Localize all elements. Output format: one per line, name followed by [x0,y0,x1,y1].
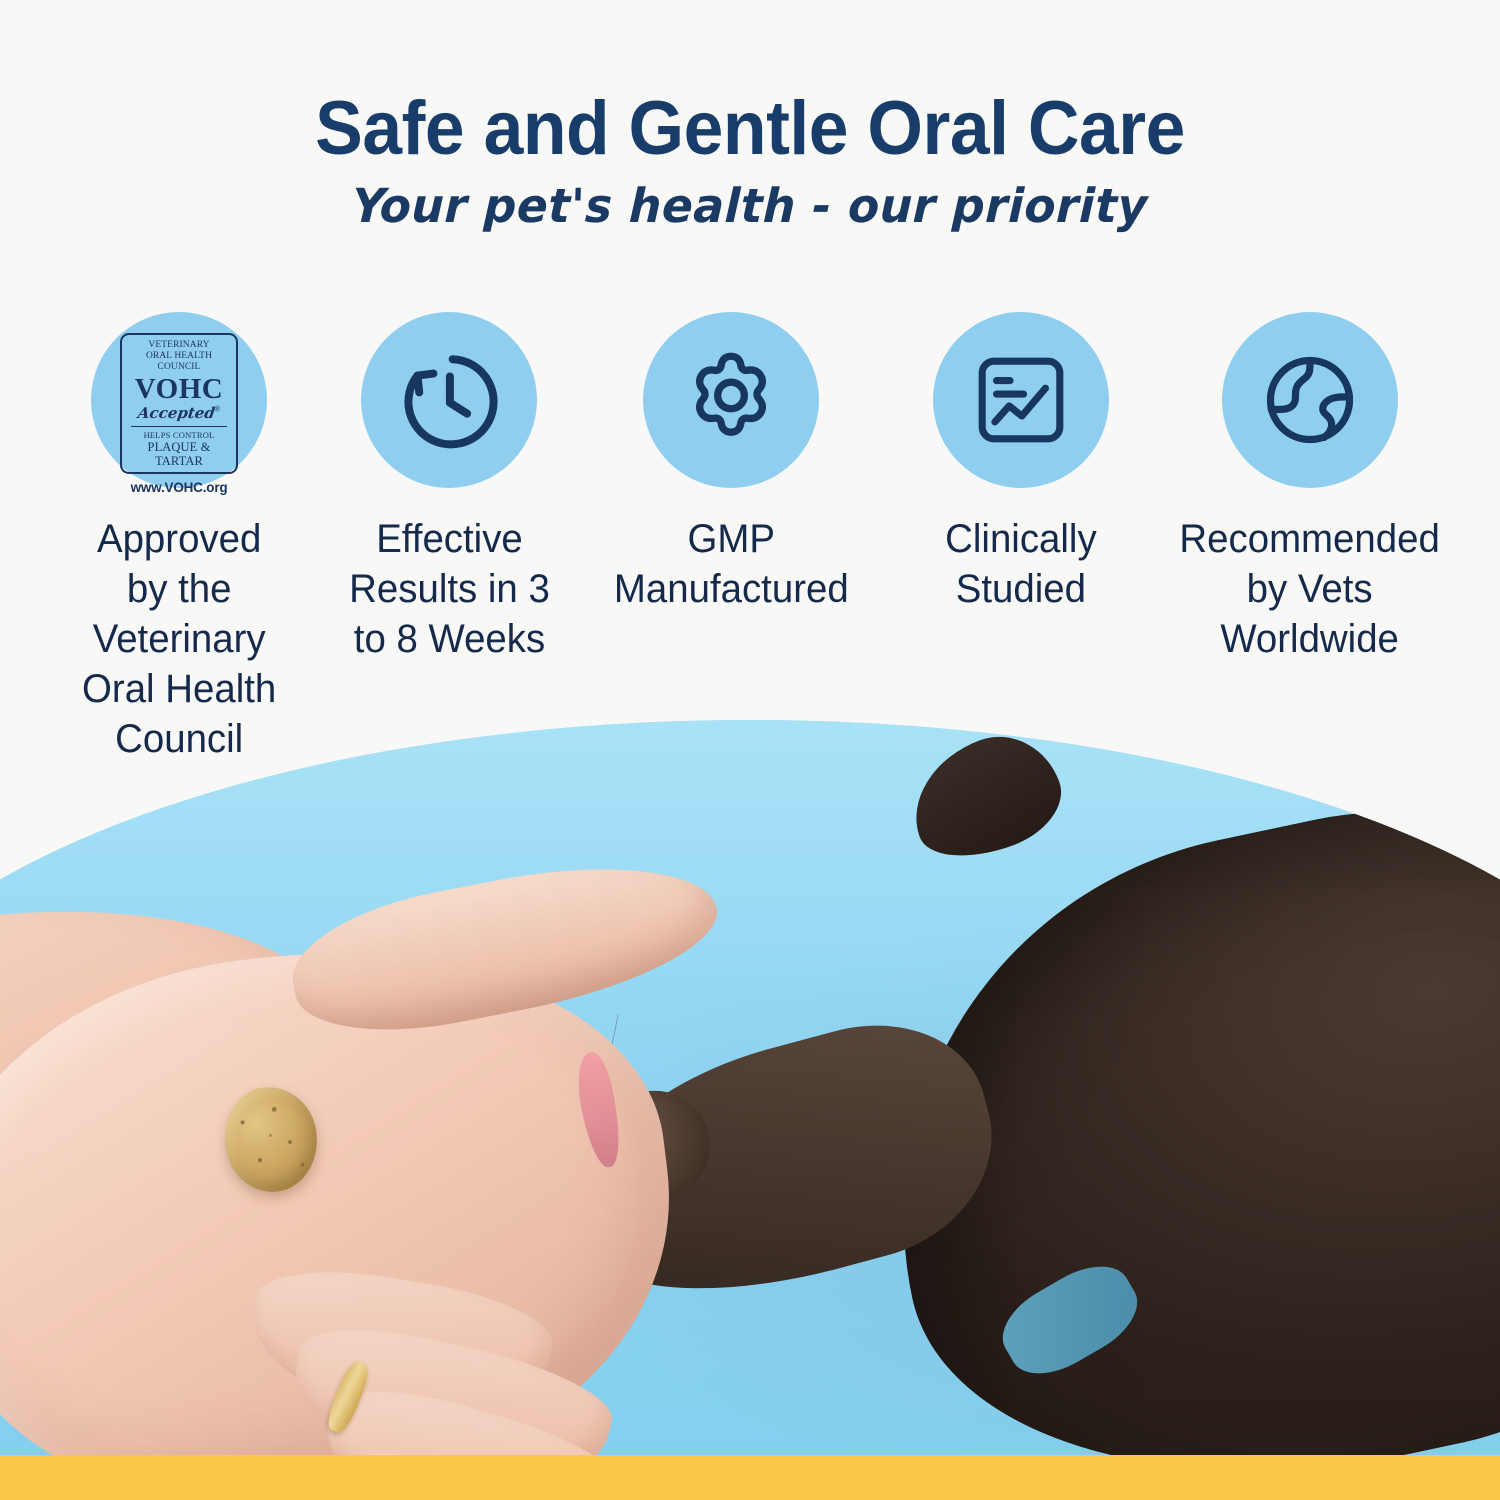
hero-photo-clip [0,720,1500,1455]
vohc-seal-divider [131,426,227,427]
clock-rotate-icon [391,342,507,458]
vohc-seal-helps: HELPS CONTROL [125,430,233,440]
vohc-seal-box: VETERINARY ORAL HEALTH COUNCIL VOHC Acce… [120,333,238,474]
benefit-item-vohc-approved: VETERINARY ORAL HEALTH COUNCIL VOHC Acce… [45,312,313,764]
benefit-item-gmp-manufactured: GMP Manufactured [585,312,877,764]
vohc-seal-mark: VOHC [125,374,233,404]
vohc-seal-url: www.VOHC.org [131,479,228,496]
hero-photo [0,720,1500,1455]
benefit-icon-circle [1222,312,1398,488]
benefit-label: Clinically Studied [945,514,1097,614]
page-subtitle: Your pet's health - our priority [21,172,1478,236]
chart-report-icon [967,346,1075,454]
page-title: Safe and Gentle Oral Care [45,0,1455,172]
benefit-icon-circle [933,312,1109,488]
benefit-item-vet-recommended: Recommended by Vets Worldwide [1165,312,1455,764]
benefit-label: GMP Manufactured [614,514,849,614]
benefit-item-effective-results: Effective Results in 3 to 8 Weeks [313,312,585,764]
vohc-seal-line1: VETERINARY [125,340,233,351]
globe-icon [1255,345,1365,455]
benefit-label: Effective Results in 3 to 8 Weeks [349,514,550,664]
benefit-icon-circle: VETERINARY ORAL HEALTH COUNCIL VOHC Acce… [91,312,267,488]
benefit-label: Recommended by Vets Worldwide [1180,514,1440,664]
hero-photo-background [0,720,1500,1455]
vohc-seal-accepted-row: Accepted® [125,404,233,423]
benefit-icon-circle [643,312,819,488]
benefits-row: VETERINARY ORAL HEALTH COUNCIL VOHC Acce… [0,312,1500,764]
promo-poster: Safe and Gentle Oral Care Your pet's hea… [0,0,1500,1500]
vohc-seal-icon: VETERINARY ORAL HEALTH COUNCIL VOHC Acce… [119,333,239,467]
header: Safe and Gentle Oral Care Your pet's hea… [0,0,1500,236]
vohc-seal-line2: ORAL HEALTH COUNCIL [125,351,233,373]
vohc-seal-accepted: Accepted [136,404,215,422]
benefit-icon-circle [361,312,537,488]
vohc-seal-plaque: PLAQUE & TARTAR [125,440,233,468]
bottom-accent-bar [0,1455,1500,1500]
benefit-label: Approved by the Veterinary Oral Health C… [82,514,276,764]
gear-icon [675,344,787,456]
benefit-item-clinically-studied: Clinically Studied [877,312,1165,764]
